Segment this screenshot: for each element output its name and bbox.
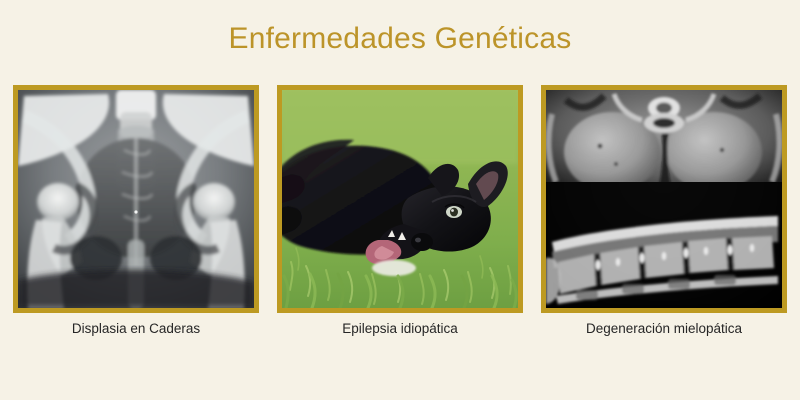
spine-mri-frame[interactable] [541, 85, 787, 313]
image-card[interactable]: Displasia en Caderas [13, 85, 259, 338]
image-card-list: Displasia en Caderas [0, 85, 800, 338]
image-card-caption: Epilepsia idiopática [277, 320, 523, 338]
hip-dysplasia-xray-icon [18, 90, 254, 308]
image-card-caption: Displasia en Caderas [13, 320, 259, 338]
image-card-caption: Degeneración mielopática [541, 320, 787, 338]
hip-dysplasia-xray-frame[interactable] [13, 85, 259, 313]
black-dog-on-grass-icon [282, 90, 518, 308]
image-card[interactable]: Epilepsia idiopática [277, 85, 523, 338]
spine-mri-icon [546, 90, 782, 308]
image-card[interactable]: Degeneración mielopática [541, 85, 787, 338]
black-dog-on-grass-frame[interactable] [277, 85, 523, 313]
page-title: Enfermedades Genéticas [0, 22, 800, 56]
slide-root: Enfermedades Genéticas [0, 0, 800, 400]
